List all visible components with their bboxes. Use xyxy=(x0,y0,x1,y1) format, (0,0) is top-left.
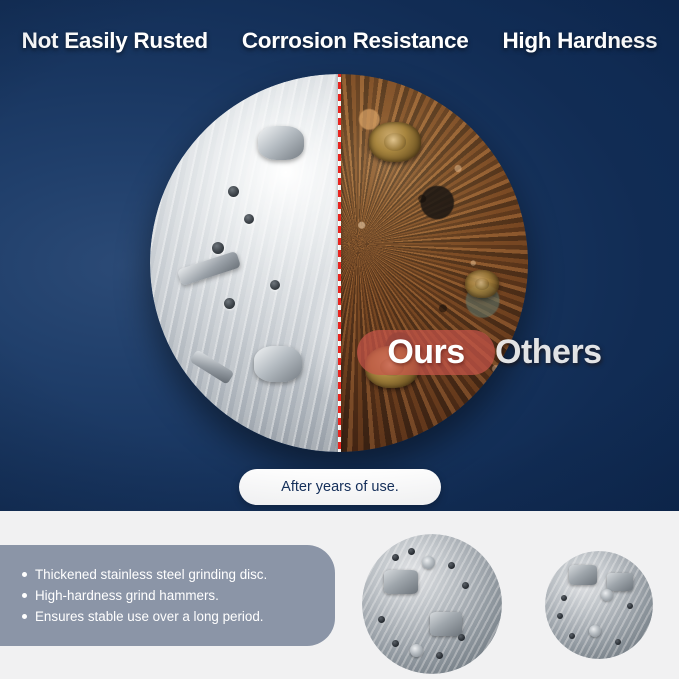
disc-hole xyxy=(244,214,254,224)
disc-body xyxy=(150,74,528,452)
spec-bullet-text: Thickened stainless steel grinding disc. xyxy=(35,567,267,582)
bottom-disc-nut xyxy=(384,570,418,594)
spec-bullet: Thickened stainless steel grinding disc. xyxy=(22,567,317,582)
product-comparison-infographic: Not Easily Rusted Corrosion Resistance H… xyxy=(0,0,679,679)
bottom-disc-hole xyxy=(458,634,465,641)
spec-bullet-text: High-hardness grind hammers. xyxy=(35,588,219,603)
headline-corrosion-resistance: Corrosion Resistance xyxy=(242,28,469,54)
bottom-disc-ours xyxy=(362,534,502,674)
disc-hole xyxy=(228,186,239,197)
bottom-disc-hole xyxy=(627,603,633,609)
bottom-disc-hole xyxy=(378,616,385,623)
hero-section: Not Easily Rusted Corrosion Resistance H… xyxy=(0,0,679,511)
bottom-disc-nut xyxy=(607,573,633,591)
red-dashed-divider xyxy=(338,74,341,452)
disc-hole xyxy=(270,280,280,290)
bottom-disc-hole xyxy=(561,595,567,601)
spec-bullet: Ensures stable use over a long period. xyxy=(22,609,317,624)
bullet-dot-icon xyxy=(22,572,27,577)
bottom-disc-others-face xyxy=(545,551,653,659)
bottom-disc-screw xyxy=(589,625,601,637)
bottom-disc-nut xyxy=(430,612,462,636)
caption-pill: After years of use. xyxy=(239,469,441,505)
comparison-disc: Ours Others xyxy=(150,74,528,452)
bottom-disc-nut xyxy=(569,565,597,585)
disc-hole xyxy=(224,298,235,309)
bottom-disc-screw xyxy=(410,644,423,657)
bottom-disc-hole xyxy=(462,582,469,589)
headline-high-hardness: High Hardness xyxy=(502,28,657,54)
label-ours-badge: Ours xyxy=(357,330,495,375)
disc-half-others-rusted xyxy=(339,74,528,452)
bottom-disc-hole xyxy=(557,613,563,619)
disc-half-ours-clean xyxy=(150,74,339,452)
spec-bullet-text: Ensures stable use over a long period. xyxy=(35,609,264,624)
bottom-disc-hole xyxy=(448,562,455,569)
bottom-disc-screw xyxy=(422,556,435,569)
disc-hammer-bolt-bottom xyxy=(254,346,302,382)
rusted-bolt-mid xyxy=(465,270,499,298)
headline-not-easily-rusted: Not Easily Rusted xyxy=(22,28,208,54)
headline-row: Not Easily Rusted Corrosion Resistance H… xyxy=(0,28,679,54)
bottom-disc-others xyxy=(545,551,653,659)
disc-surface-ours xyxy=(150,74,339,452)
bottom-disc-hole xyxy=(392,554,399,561)
bottom-section: Thickened stainless steel grinding disc.… xyxy=(0,511,679,679)
disc-hammer-bolt-top xyxy=(258,126,304,160)
rusted-hammer-bolt-top xyxy=(369,122,421,162)
bottom-disc-hole xyxy=(436,652,443,659)
label-others-badge: Others xyxy=(495,330,602,375)
rust-texture xyxy=(339,74,528,452)
bottom-disc-ours-face xyxy=(362,534,502,674)
bottom-disc-hole xyxy=(392,640,399,647)
spec-bullet: High-hardness grind hammers. xyxy=(22,588,317,603)
label-ours-text: Ours xyxy=(387,333,464,372)
bottom-disc-hole xyxy=(615,639,621,645)
label-others-text: Others xyxy=(495,333,602,372)
caption-text: After years of use. xyxy=(281,479,399,495)
bottom-disc-hole xyxy=(408,548,415,555)
bullet-dot-icon xyxy=(22,614,27,619)
bullet-dot-icon xyxy=(22,593,27,598)
disc-hole xyxy=(212,242,224,254)
bottom-disc-hole xyxy=(569,633,575,639)
bottom-disc-screw xyxy=(601,589,613,601)
spec-panel: Thickened stainless steel grinding disc.… xyxy=(0,545,335,646)
